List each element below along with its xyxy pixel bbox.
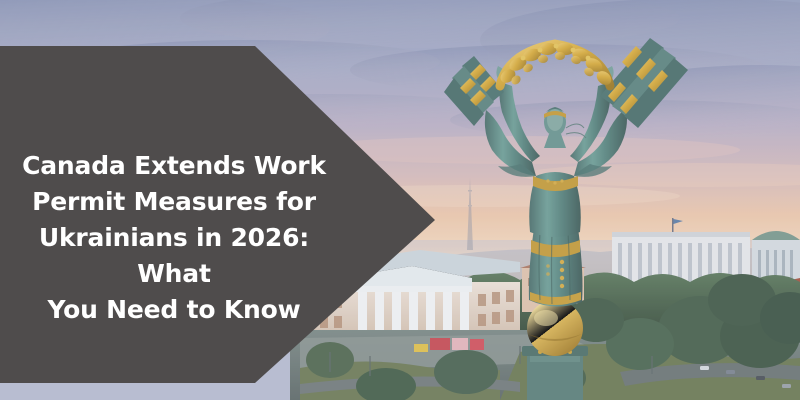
banner-title-block: Canada Extends Work Permit Measures for … xyxy=(6,148,342,328)
article-banner: Canada Extends Work Permit Measures for … xyxy=(0,0,800,400)
page-title: Canada Extends Work Permit Measures for … xyxy=(6,148,342,328)
